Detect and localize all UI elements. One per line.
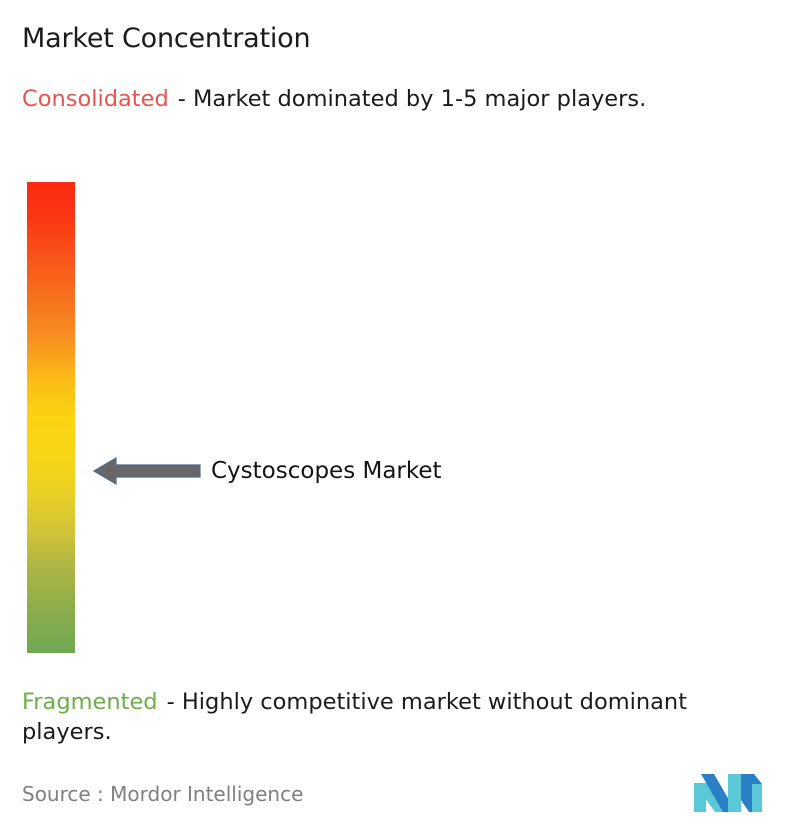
concentration-gradient-bar: [27, 182, 75, 653]
legend-fragmented: Fragmented- Highly competitive market wi…: [22, 687, 782, 747]
arrow-left-icon: [93, 455, 201, 487]
market-concentration-infographic: Market Concentration Consolidated- Marke…: [0, 0, 796, 834]
mordor-intelligence-logo-icon: [692, 772, 764, 814]
source-note: Source : Mordor Intelligence: [22, 781, 303, 807]
legend-consolidated-term: Consolidated: [22, 86, 169, 112]
page-title: Market Concentration: [22, 22, 310, 56]
legend-consolidated: Consolidated- Market dominated by 1-5 ma…: [22, 84, 774, 114]
market-pointer-label: Cystoscopes Market: [211, 457, 442, 485]
legend-consolidated-description: - Market dominated by 1-5 major players.: [178, 86, 647, 112]
logo-mark: [692, 772, 764, 814]
legend-fragmented-term: Fragmented: [22, 689, 158, 715]
market-pointer: Cystoscopes Market: [93, 454, 442, 488]
